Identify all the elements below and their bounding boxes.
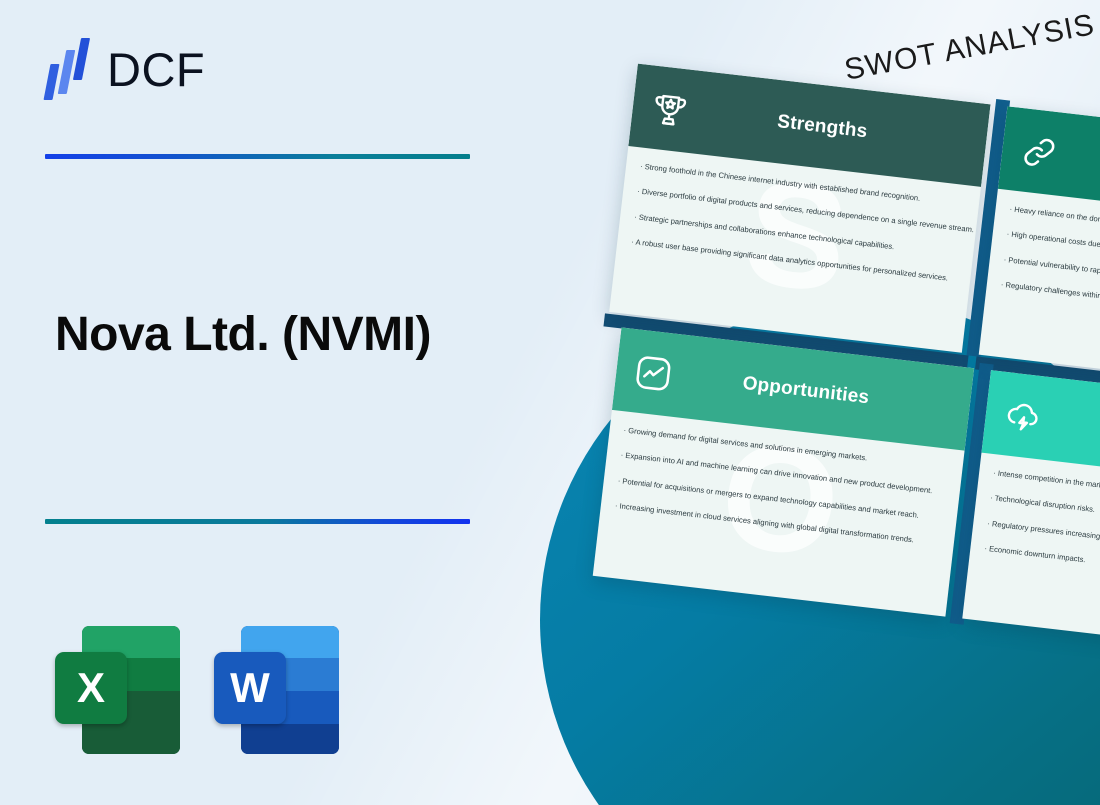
card-list-weaknesses: · Heavy reliance on the domestic market.… <box>1000 204 1100 327</box>
swot-card-grid: Strengths S · Strong foothold in the Chi… <box>578 64 1100 654</box>
brand-logo[interactable]: DCF <box>45 38 205 100</box>
card-body-threats: T · Intense competition in the market. ·… <box>970 453 1100 593</box>
swot-card-strengths[interactable]: Strengths S · Strong foothold in the Chi… <box>609 64 990 353</box>
page-title: Nova Ltd. (NVMI) <box>55 308 525 362</box>
dcf-bars-logo-icon <box>45 38 93 100</box>
trophy-icon <box>649 88 691 130</box>
slide-canvas: DCF Nova Ltd. (NVMI) X W SWOT ANALYSIS <box>0 0 1100 805</box>
swot-artwork: SWOT ANALYSIS <box>515 0 1100 805</box>
card-list-threats: · Intense competition in the market. · T… <box>984 468 1100 591</box>
list-item: · Economic downturn impacts. <box>984 544 1100 591</box>
trend-line-icon <box>632 352 674 394</box>
card-body-weaknesses: W · Heavy reliance on the domestic marke… <box>986 189 1100 329</box>
divider-bottom <box>45 519 470 524</box>
storm-cloud-icon <box>1002 395 1044 437</box>
word-letter: W <box>214 652 286 724</box>
excel-letter: X <box>55 652 127 724</box>
swot-heading: SWOT ANALYSIS <box>842 8 1098 88</box>
card-list-strengths: · Strong foothold in the Chinese interne… <box>631 162 964 285</box>
list-item: · Regulatory challenges within the indus… <box>1000 280 1100 327</box>
excel-file-icon[interactable]: X <box>55 620 180 755</box>
download-icons: X W <box>55 620 339 755</box>
card-list-opportunities: · Growing demand for digital services an… <box>614 425 947 548</box>
link-chain-icon <box>1018 131 1060 173</box>
swot-card-opportunities[interactable]: Opportunities O · Growing demand for dig… <box>593 327 974 616</box>
brand-name: DCF <box>107 46 205 93</box>
divider-top <box>45 154 470 159</box>
word-file-icon[interactable]: W <box>214 620 339 755</box>
